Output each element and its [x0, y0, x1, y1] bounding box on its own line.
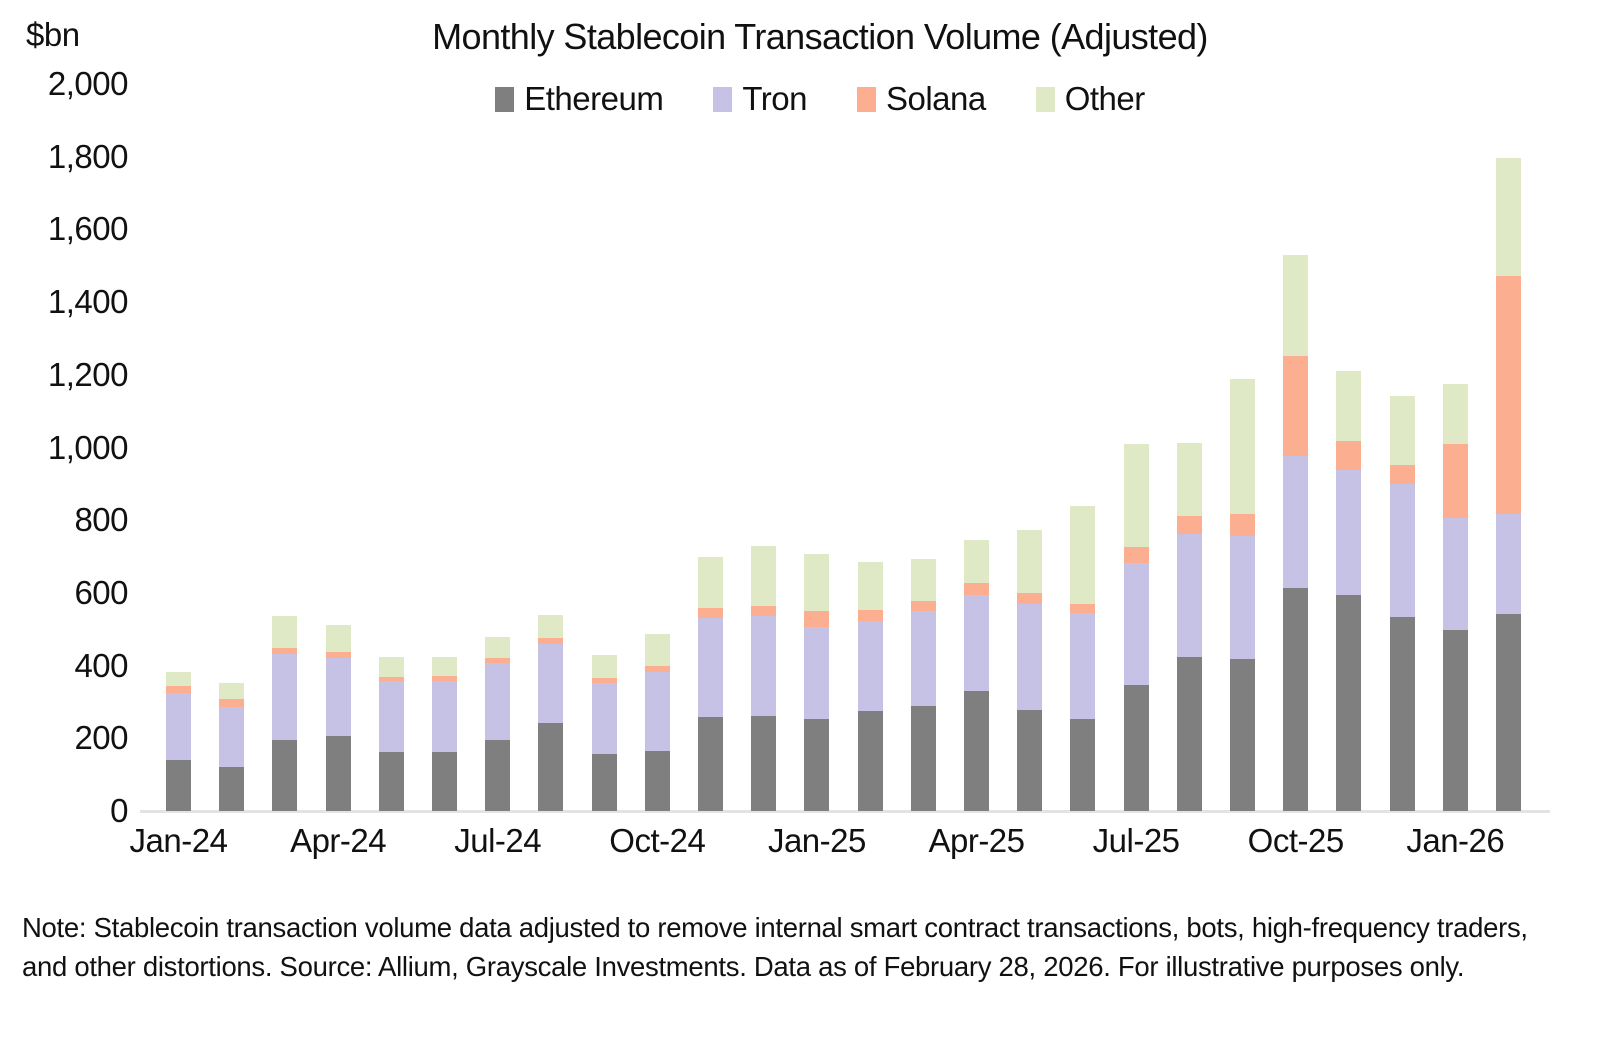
bar-segment-ethereum [1070, 719, 1095, 811]
bar-segment-other [326, 625, 351, 652]
bar-segment-solana [911, 601, 936, 611]
bar-segment-tron [592, 683, 617, 754]
y-axis-tick-label: 400 [8, 647, 128, 685]
bar-apr-24[interactable] [326, 625, 351, 811]
bar-sep-25[interactable] [1230, 379, 1255, 811]
bar-segment-tron [326, 658, 351, 736]
x-axis: Jan-24Apr-24Jul-24Oct-24Jan-25Apr-25Jul-… [140, 822, 1560, 872]
bar-feb-26[interactable] [1496, 158, 1521, 811]
bar-nov-25[interactable] [1336, 371, 1361, 811]
bar-segment-tron [432, 681, 457, 752]
bar-segment-ethereum [485, 740, 510, 811]
bar-segment-tron [1390, 484, 1415, 616]
chart-root: $bn Monthly Stablecoin Transaction Volum… [0, 0, 1600, 1061]
bar-segment-other [1283, 255, 1308, 357]
bar-dec-25[interactable] [1390, 396, 1415, 811]
bar-segment-ethereum [858, 711, 883, 811]
bar-segment-ethereum [326, 736, 351, 811]
bar-segment-ethereum [432, 752, 457, 811]
bar-segment-other [1017, 530, 1042, 593]
chart-title: Monthly Stablecoin Transaction Volume (A… [240, 16, 1400, 58]
bar-segment-solana [1390, 465, 1415, 484]
y-axis-tick-label: 0 [8, 792, 128, 830]
bar-jul-24[interactable] [485, 637, 510, 811]
bar-segment-tron [485, 663, 510, 740]
bar-segment-other [751, 546, 776, 606]
y-axis-tick-label: 200 [8, 719, 128, 757]
bar-segment-solana [219, 699, 244, 707]
bar-segment-ethereum [1177, 657, 1202, 811]
bar-segment-tron [751, 616, 776, 716]
bar-segment-ethereum [219, 767, 244, 811]
bar-segment-other [379, 657, 404, 677]
bar-segment-solana [1283, 356, 1308, 456]
bar-segment-ethereum [166, 760, 191, 811]
x-axis-tick-label: Jan-26 [1406, 822, 1504, 860]
bar-segment-tron [166, 693, 191, 760]
bar-apr-25[interactable] [964, 540, 989, 812]
bar-may-24[interactable] [379, 657, 404, 811]
bar-segment-ethereum [538, 723, 563, 811]
bar-segment-other [1390, 396, 1415, 465]
bar-segment-ethereum [1336, 595, 1361, 811]
x-axis-tick-label: Jul-24 [454, 822, 541, 860]
bar-segment-tron [1283, 456, 1308, 588]
bar-jun-25[interactable] [1070, 506, 1095, 811]
bar-segment-tron [219, 707, 244, 767]
bar-dec-24[interactable] [751, 546, 776, 811]
y-axis: 2,0001,8001,6001,4001,2001,0008006004002… [0, 60, 128, 820]
bar-aug-24[interactable] [538, 615, 563, 811]
x-axis-tick-label: Jan-25 [768, 822, 866, 860]
bar-segment-tron [1124, 563, 1149, 685]
bar-segment-tron [272, 654, 297, 740]
bar-segment-solana [1177, 516, 1202, 534]
y-axis-tick-label: 800 [8, 501, 128, 539]
bar-segment-ethereum [1230, 659, 1255, 811]
bar-jan-26[interactable] [1443, 384, 1468, 811]
bar-segment-other [1124, 444, 1149, 548]
bar-segment-solana [698, 608, 723, 618]
x-axis-tick-label: Oct-25 [1248, 822, 1344, 860]
bar-segment-other [1496, 158, 1521, 276]
bar-segment-other [964, 540, 989, 584]
bar-segment-other [592, 655, 617, 678]
bar-segment-solana [858, 610, 883, 621]
bar-segment-solana [751, 606, 776, 615]
bar-segment-tron [1230, 536, 1255, 660]
x-axis-tick-label: Apr-25 [928, 822, 1024, 860]
bar-oct-24[interactable] [645, 634, 670, 811]
bar-jun-24[interactable] [432, 657, 457, 811]
bar-sep-24[interactable] [592, 655, 617, 811]
bar-segment-other [272, 616, 297, 648]
bar-segment-tron [1336, 470, 1361, 595]
bar-segment-ethereum [379, 752, 404, 811]
bar-segment-solana [1070, 604, 1095, 613]
bar-segment-solana [1017, 593, 1042, 604]
bar-segment-ethereum [1124, 685, 1149, 811]
bar-segment-solana [1496, 276, 1521, 515]
bar-segment-other [1230, 379, 1255, 514]
y-axis-unit-label: $bn [26, 16, 80, 54]
bar-segment-other [645, 634, 670, 666]
bar-series-container [140, 84, 1560, 811]
bar-segment-other [219, 683, 244, 699]
bar-feb-24[interactable] [219, 683, 244, 811]
bar-nov-24[interactable] [698, 557, 723, 811]
bar-aug-25[interactable] [1177, 443, 1202, 811]
bar-segment-tron [1496, 514, 1521, 613]
y-axis-tick-label: 1,600 [8, 210, 128, 248]
bar-segment-tron [379, 681, 404, 752]
bar-segment-tron [964, 595, 989, 691]
bar-segment-solana [1443, 444, 1468, 517]
bar-segment-ethereum [964, 691, 989, 811]
bar-segment-tron [911, 611, 936, 707]
bar-segment-ethereum [698, 717, 723, 811]
bar-segment-tron [1070, 613, 1095, 720]
bar-segment-tron [1017, 604, 1042, 711]
x-axis-tick-label: Oct-24 [609, 822, 705, 860]
bar-segment-solana [1124, 547, 1149, 563]
bar-segment-tron [698, 618, 723, 717]
bar-segment-solana [804, 611, 829, 627]
y-axis-tick-label: 1,000 [8, 429, 128, 467]
bar-segment-other [911, 559, 936, 600]
y-axis-tick-label: 1,800 [8, 138, 128, 176]
bar-segment-other [804, 554, 829, 611]
x-axis-tick-label: Jan-24 [130, 822, 228, 860]
bar-segment-other [485, 637, 510, 658]
bar-segment-other [166, 672, 191, 686]
bar-segment-other [1177, 443, 1202, 516]
bar-jan-25[interactable] [804, 554, 829, 811]
bar-segment-other [1336, 371, 1361, 442]
bar-segment-tron [1443, 518, 1468, 631]
bar-segment-ethereum [592, 754, 617, 811]
bar-jul-25[interactable] [1124, 444, 1149, 811]
bar-segment-ethereum [272, 740, 297, 811]
bar-feb-25[interactable] [858, 562, 883, 811]
y-axis-tick-label: 2,000 [8, 65, 128, 103]
bar-segment-ethereum [1496, 614, 1521, 811]
bar-segment-ethereum [911, 706, 936, 811]
bar-mar-25[interactable] [911, 559, 936, 811]
y-axis-tick-label: 600 [8, 574, 128, 612]
bar-segment-other [858, 562, 883, 610]
bar-segment-ethereum [1017, 710, 1042, 811]
bar-segment-tron [804, 627, 829, 719]
bar-segment-tron [858, 621, 883, 712]
bar-segment-ethereum [1283, 588, 1308, 811]
bar-segment-ethereum [751, 716, 776, 811]
bar-segment-tron [645, 672, 670, 751]
bar-segment-ethereum [804, 719, 829, 811]
bar-segment-ethereum [1390, 617, 1415, 811]
y-axis-tick-label: 1,400 [8, 283, 128, 321]
bar-segment-other [1443, 384, 1468, 444]
bar-segment-other [432, 657, 457, 676]
bar-oct-25[interactable] [1283, 255, 1308, 811]
x-axis-tick-label: Apr-24 [290, 822, 386, 860]
bar-segment-other [538, 615, 563, 637]
bar-segment-other [1070, 506, 1095, 605]
chart-footnote: Note: Stablecoin transaction volume data… [22, 908, 1567, 986]
bar-segment-solana [964, 583, 989, 595]
bar-segment-tron [1177, 534, 1202, 657]
bar-segment-solana [1336, 441, 1361, 469]
bar-segment-other [698, 557, 723, 608]
bar-segment-ethereum [645, 751, 670, 811]
bar-segment-ethereum [1443, 630, 1468, 811]
y-axis-tick-label: 1,200 [8, 356, 128, 394]
x-axis-tick-label: Jul-25 [1093, 822, 1180, 860]
bar-segment-tron [538, 644, 563, 723]
bar-segment-solana [1230, 514, 1255, 536]
bar-jan-24[interactable] [166, 672, 191, 811]
bar-may-25[interactable] [1017, 530, 1042, 811]
bar-mar-24[interactable] [272, 616, 297, 811]
